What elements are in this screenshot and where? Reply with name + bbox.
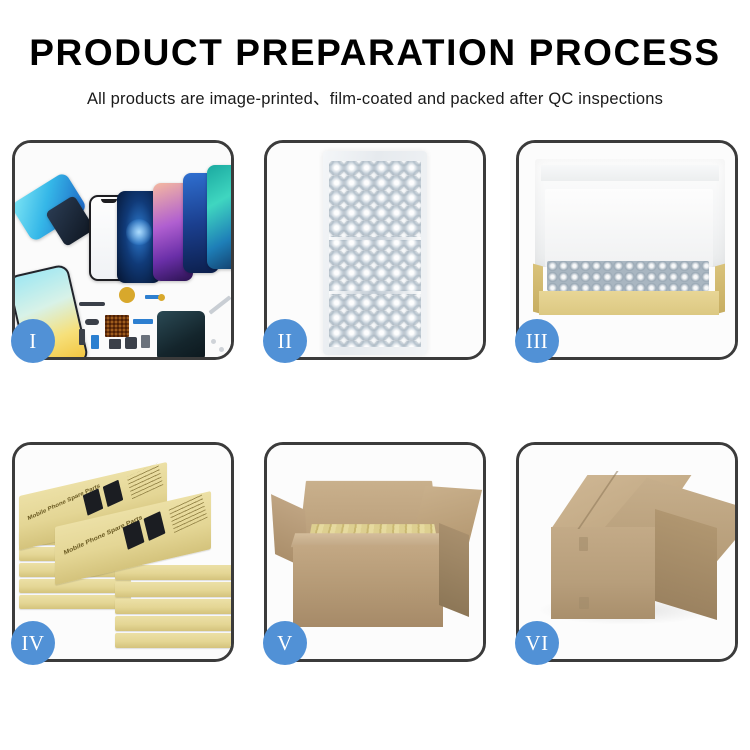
step-badge-3: III xyxy=(515,319,559,363)
carton-side-face xyxy=(439,523,469,617)
camera-module-part xyxy=(109,339,121,349)
bubble-wrap-sheet xyxy=(323,151,427,355)
step-badge-1: I xyxy=(11,319,55,363)
step-badge-5: V xyxy=(263,621,307,665)
battery-connector-part xyxy=(141,335,150,348)
step-badge-2: II xyxy=(263,319,307,363)
logic-board-part xyxy=(157,311,205,357)
speaker-part xyxy=(125,337,137,349)
step-panel-carton-sealed[interactable]: VI xyxy=(516,442,738,662)
step-badge-4: IV xyxy=(11,621,55,665)
flex-strip-part xyxy=(91,335,99,349)
screw-part-1 xyxy=(211,339,216,344)
page-subtitle: All products are image-printed、film-coat… xyxy=(0,85,750,109)
bubble-wrapped-item xyxy=(547,261,709,291)
ribbon-cable-part xyxy=(133,319,153,324)
white-foam-sheet xyxy=(545,189,713,267)
sealed-carton-side-face xyxy=(655,509,717,620)
step-panel-bubble-wrap[interactable]: II xyxy=(264,140,486,360)
page-header: PRODUCT PREPARATION PROCESS All products… xyxy=(0,0,750,109)
step-badge-6: VI xyxy=(515,621,559,665)
box-lid-fold xyxy=(541,165,719,181)
vibrator-part xyxy=(79,329,85,345)
gold-connector-part xyxy=(158,294,165,301)
step-panel-carton-filled[interactable]: V xyxy=(264,442,486,662)
step-panel-inner-box[interactable]: III xyxy=(516,140,738,360)
page-title: PRODUCT PREPARATION PROCESS xyxy=(0,34,750,71)
carton-tape-upper xyxy=(579,537,588,551)
earpiece-mesh-part xyxy=(79,302,105,306)
box-front-panel xyxy=(539,291,719,315)
carton-tape-lower xyxy=(579,597,589,609)
teal-wave-phone xyxy=(207,165,231,269)
step-panel-product-parts[interactable]: I xyxy=(12,140,234,360)
carton-front-face xyxy=(293,545,443,627)
process-steps-grid: I II III xyxy=(12,140,738,662)
screw-part-2 xyxy=(219,347,224,352)
step-panel-boxes-stacked[interactable]: Mobile Phone Spare Parts Mobile Phone Sp… xyxy=(12,442,234,662)
small-connector-part xyxy=(85,319,99,325)
sealed-carton-front-face xyxy=(551,527,655,619)
wireless-coil-part xyxy=(119,287,135,303)
ic-chip-array-part xyxy=(105,315,129,337)
